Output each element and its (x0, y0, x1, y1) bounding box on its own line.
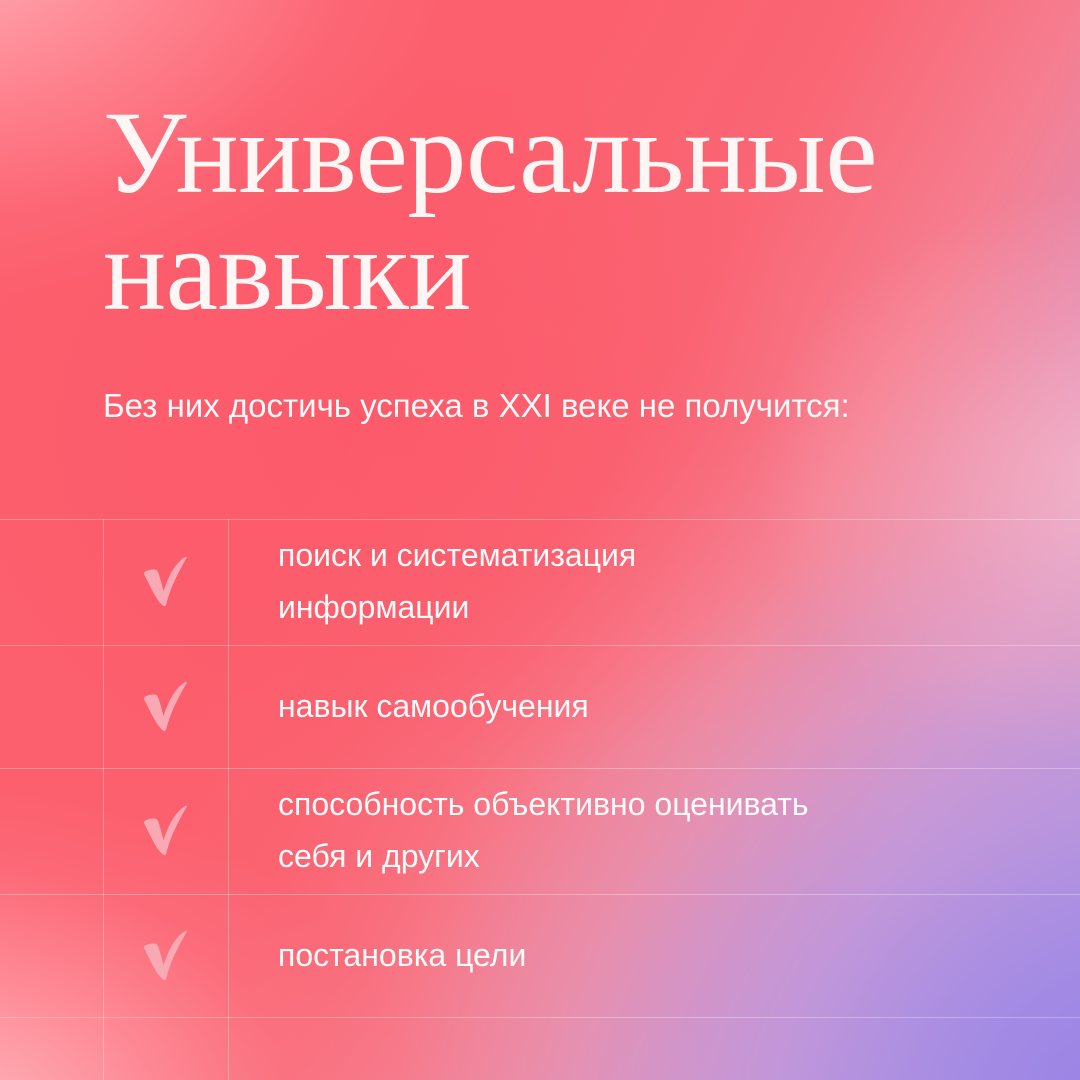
list-item-label: навык самообучения (278, 681, 1050, 733)
checkmark-icon (138, 928, 194, 984)
list-item: поиск и систематизация информации (0, 519, 1080, 645)
page-title: Универсальные навыки (103, 95, 1003, 329)
list-item-label: постановка цели (278, 930, 1050, 982)
checkmark-icon (138, 679, 194, 735)
list-item-label: способность объективно оценивать себя и … (278, 779, 1050, 883)
page-subtitle: Без них достичь успеха в XXI веке не пол… (103, 381, 893, 431)
list-item: постановка цели (0, 894, 1080, 1017)
poster-content: Универсальные навыки Без них достичь усп… (0, 0, 1080, 1080)
checkmark-icon (138, 803, 194, 859)
checkmark-cell (103, 768, 228, 894)
checkmark-cell (103, 894, 228, 1017)
list-item: способность объективно оценивать себя и … (0, 768, 1080, 894)
list-item-label: поиск и систематизация информации (278, 530, 1050, 634)
poster-canvas: Универсальные навыки Без них достичь усп… (0, 0, 1080, 1080)
checkmark-cell (103, 645, 228, 768)
list-item: навык самообучения (0, 645, 1080, 768)
checkmark-icon (138, 554, 194, 610)
checkmark-cell (103, 519, 228, 645)
